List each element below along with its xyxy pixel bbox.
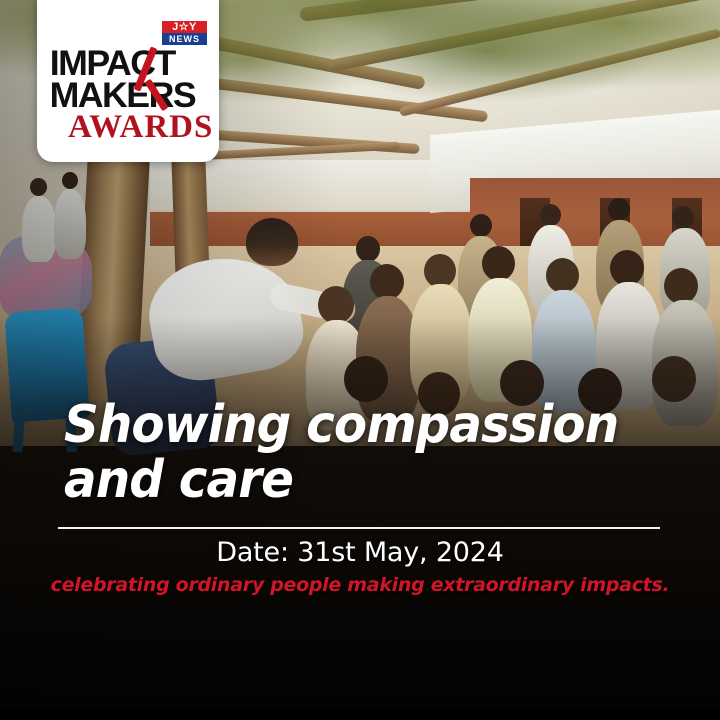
headline-line-1: Showing compassion — [64, 395, 618, 455]
impact-makers-awards-logo: J☆Y NEWS IMPACT MAKERS AWARDS — [37, 0, 219, 162]
page-title: Showing compassion and care — [64, 398, 622, 508]
logo-line-makers: MAKERS — [50, 78, 196, 113]
event-tagline: celebrating ordinary people making extra… — [0, 574, 720, 596]
event-date: Date: 31st May, 2024 — [0, 537, 720, 568]
logo-line-awards: AWARDS — [68, 111, 213, 144]
sponsor-bar: SPONSORS McDan G R O U P GOLDKEY P R O — [0, 618, 720, 714]
headline-line-2: and care — [64, 453, 622, 508]
horizontal-divider — [58, 527, 660, 529]
joy-news-badge-top: J☆Y — [162, 21, 207, 33]
poster-root: J☆Y NEWS IMPACT MAKERS AWARDS Showing co… — [0, 0, 720, 720]
joy-news-badge: J☆Y NEWS — [161, 20, 208, 46]
bottom-strip — [0, 708, 720, 720]
